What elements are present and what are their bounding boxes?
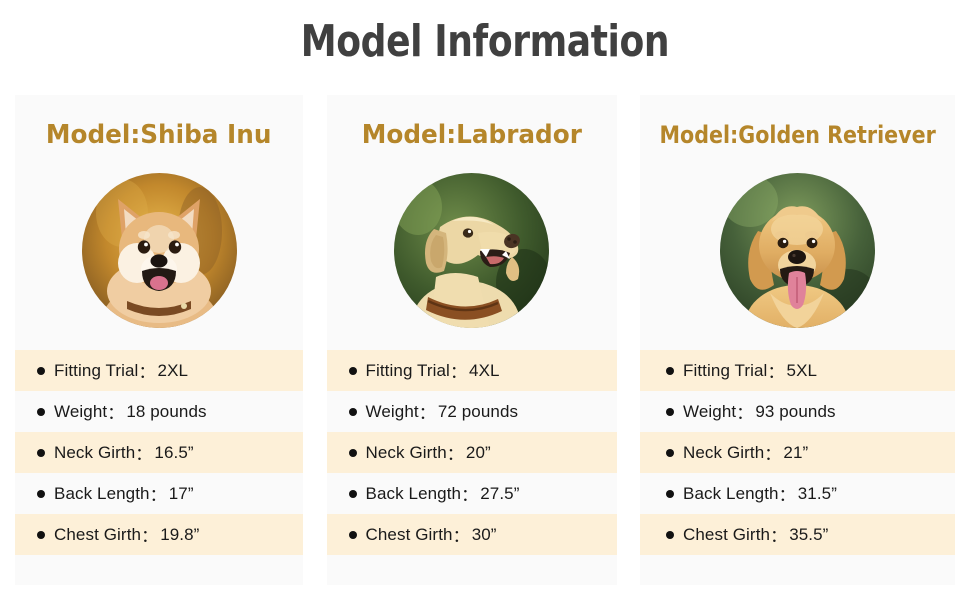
spec-value: 16.5” — [152, 443, 193, 463]
spec-colon: ： — [736, 399, 753, 424]
spec-colon: ： — [447, 440, 464, 465]
spec-label: Neck Girth — [366, 443, 447, 463]
bullet-icon — [349, 531, 357, 539]
bullet-icon — [666, 490, 674, 498]
spec-label: Chest Girth — [683, 525, 770, 545]
model-information-page: Model Information Model:Shiba Inu — [0, 0, 970, 600]
spec-colon: ： — [461, 481, 478, 506]
spec-value: 72 pounds — [436, 402, 518, 422]
spec-colon: ： — [150, 481, 167, 506]
spec-label: Chest Girth — [54, 525, 141, 545]
bullet-icon — [666, 408, 674, 416]
bullet-icon — [37, 408, 45, 416]
spec-value: 20” — [464, 443, 491, 463]
spec-colon: ： — [764, 440, 781, 465]
spec-row: Chest Girth ： 19.8” — [15, 514, 303, 555]
spec-colon: ： — [770, 522, 787, 547]
spec-label: Chest Girth — [366, 525, 453, 545]
spec-colon: ： — [138, 358, 155, 383]
spec-colon: ： — [767, 358, 784, 383]
spec-row: Chest Girth ： 35.5” — [640, 514, 955, 555]
model-cards-container: Model:Shiba Inu — [15, 95, 955, 585]
spec-label: Neck Girth — [54, 443, 135, 463]
spec-row: Chest Girth ： 30” — [327, 514, 617, 555]
bullet-icon — [37, 490, 45, 498]
model-card-shiba-inu: Model:Shiba Inu — [15, 95, 303, 585]
spec-row: Fitting Trial ： 2XL — [15, 350, 303, 391]
spec-list: Fitting Trial ： 2XL Weight ： 18 pounds N… — [15, 350, 303, 555]
spec-value: 2XL — [156, 361, 189, 381]
spec-row: Fitting Trial ： 4XL — [327, 350, 617, 391]
spec-label: Back Length — [366, 484, 462, 504]
labrador-photo-icon — [394, 173, 549, 328]
bullet-icon — [666, 367, 674, 375]
spec-colon: ： — [779, 481, 796, 506]
spec-value: 4XL — [467, 361, 500, 381]
shiba-inu-photo-icon — [82, 173, 237, 328]
spec-row: Back Length ： 17” — [15, 473, 303, 514]
model-card-golden-retriever: Model:Golden Retriever — [640, 95, 955, 585]
page-title: Model Information — [87, 16, 882, 67]
spec-label: Weight — [683, 402, 736, 422]
spec-row: Weight ： 72 pounds — [327, 391, 617, 432]
spec-list: Fitting Trial ： 4XL Weight ： 72 pounds N… — [327, 350, 617, 555]
bullet-icon — [37, 367, 45, 375]
spec-value: 31.5” — [796, 484, 837, 504]
spec-label: Fitting Trial — [683, 361, 767, 381]
spec-row: Back Length ： 27.5” — [327, 473, 617, 514]
shiba-inu-portrait — [82, 173, 237, 328]
spec-label: Back Length — [54, 484, 150, 504]
bullet-icon — [666, 449, 674, 457]
golden-retriever-photo-icon — [720, 173, 875, 328]
spec-row: Neck Girth ： 21” — [640, 432, 955, 473]
spec-colon: ： — [107, 399, 124, 424]
spec-label: Weight — [54, 402, 107, 422]
model-name-label: Model:Shiba Inu — [46, 117, 271, 153]
spec-label: Weight — [366, 402, 419, 422]
spec-row: Neck Girth ： 20” — [327, 432, 617, 473]
spec-value: 30” — [470, 525, 497, 545]
spec-colon: ： — [419, 399, 436, 424]
spec-colon: ： — [141, 522, 158, 547]
golden-retriever-portrait — [720, 173, 875, 328]
spec-label: Neck Girth — [683, 443, 764, 463]
spec-value: 19.8” — [158, 525, 199, 545]
spec-label: Fitting Trial — [366, 361, 450, 381]
spec-colon: ： — [450, 358, 467, 383]
spec-list: Fitting Trial ： 5XL Weight ： 93 pounds N… — [640, 350, 955, 555]
spec-value: 27.5” — [478, 484, 519, 504]
spec-label: Fitting Trial — [54, 361, 138, 381]
bullet-icon — [349, 408, 357, 416]
bullet-icon — [349, 449, 357, 457]
bullet-icon — [349, 367, 357, 375]
model-name-label: Model:Labrador — [361, 117, 581, 153]
spec-value: 93 pounds — [753, 402, 835, 422]
bullet-icon — [666, 531, 674, 539]
spec-row: Back Length ： 31.5” — [640, 473, 955, 514]
spec-value: 5XL — [785, 361, 818, 381]
bullet-icon — [37, 449, 45, 457]
spec-label: Back Length — [683, 484, 779, 504]
spec-value: 17” — [167, 484, 194, 504]
bullet-icon — [349, 490, 357, 498]
spec-row: Weight ： 18 pounds — [15, 391, 303, 432]
labrador-portrait — [394, 173, 549, 328]
spec-colon: ： — [135, 440, 152, 465]
spec-colon: ： — [453, 522, 470, 547]
spec-row: Weight ： 93 pounds — [640, 391, 955, 432]
bullet-icon — [37, 531, 45, 539]
spec-row: Fitting Trial ： 5XL — [640, 350, 955, 391]
spec-value: 21” — [781, 443, 808, 463]
spec-value: 35.5” — [787, 525, 828, 545]
model-card-labrador: Model:Labrador — [327, 95, 617, 585]
spec-value: 18 pounds — [124, 402, 206, 422]
model-name-label: Model:Golden Retriever — [659, 117, 935, 153]
spec-row: Neck Girth ： 16.5” — [15, 432, 303, 473]
